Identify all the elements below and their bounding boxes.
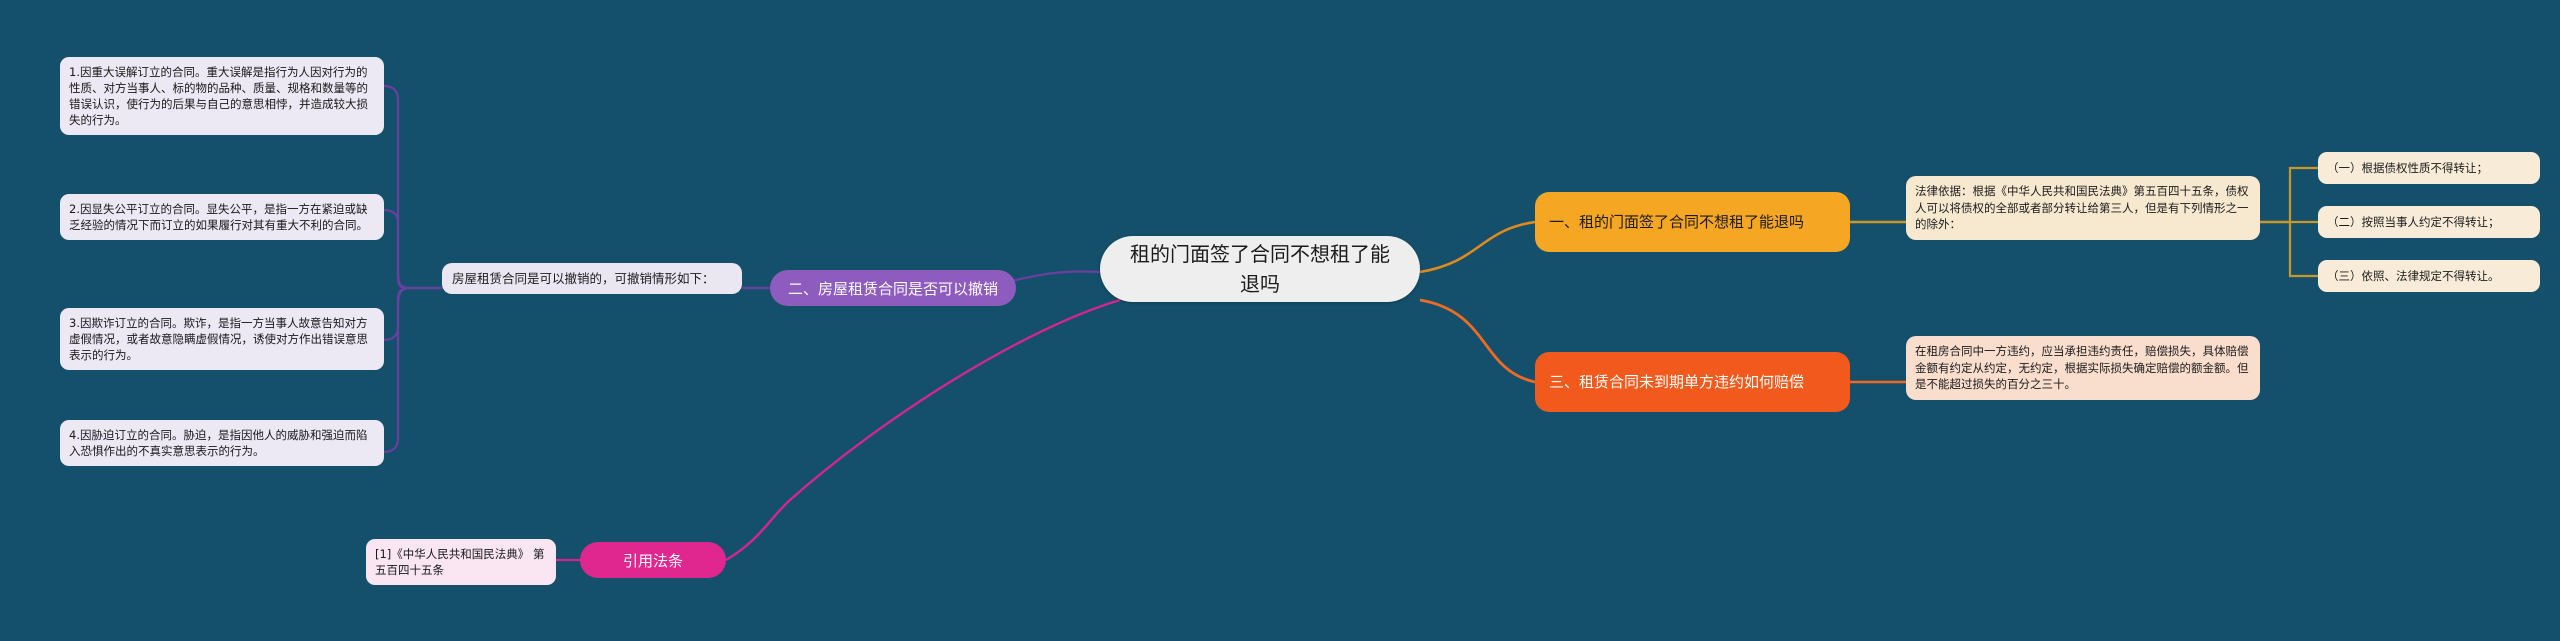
orange-leaf-1-text: （一）根据债权性质不得转让； <box>2327 160 2488 176</box>
link-summary-to-item4 <box>384 288 410 452</box>
mindmap-canvas: 租的门面签了合同不想租了能退吗 二、房屋租赁合同是否可以撤销 房屋租赁合同是可以… <box>0 0 2560 641</box>
branch-label-orange: 一、租的门面签了合同不想租了能退吗 <box>1549 211 1804 234</box>
orange-leaf-1[interactable]: （一）根据债权性质不得转让； <box>2318 152 2540 184</box>
purple-item-2-text: 2.因显失公平订立的合同。显失公平，是指一方在紧迫或缺乏经验的情况下而订立的如果… <box>69 202 368 232</box>
link-orange-leaf-1 <box>2290 168 2318 222</box>
branch-node-purple[interactable]: 二、房屋租赁合同是否可以撤销 <box>770 270 1016 306</box>
pink-item-1-text: [1]《中华人民共和国民法典》 第五百四十五条 <box>375 547 544 577</box>
link-summary-to-item3 <box>384 288 410 340</box>
orange-summary-text: 法律依据：根据《中华人民共和国民法典》第五百四十五条，债权人可以将债权的全部或者… <box>1915 184 2249 231</box>
branch-node-pink[interactable]: 引用法条 <box>580 542 726 578</box>
root-node[interactable]: 租的门面签了合同不想租了能退吗 <box>1100 236 1420 302</box>
pink-item-1[interactable]: [1]《中华人民共和国民法典》 第五百四十五条 <box>366 539 556 585</box>
purple-item-4[interactable]: 4.因胁迫订立的合同。胁迫，是指因他人的威胁和强迫而陷入恐惧作出的不真实意思表示… <box>60 420 384 466</box>
purple-summary-box[interactable]: 房屋租赁合同是可以撤销的，可撤销情形如下： <box>442 263 742 294</box>
purple-item-4-text: 4.因胁迫订立的合同。胁迫，是指因他人的威胁和强迫而陷入恐惧作出的不真实意思表示… <box>69 428 367 458</box>
purple-item-1-text: 1.因重大误解订立的合同。重大误解是指行为人因对行为的性质、对方当事人、标的物的… <box>69 65 368 127</box>
orange-leaf-2-text: （二）按照当事人约定不得转让； <box>2327 214 2500 230</box>
orange-leaf-2[interactable]: （二）按照当事人约定不得转让； <box>2318 206 2540 238</box>
link-orange-leaf-3 <box>2290 222 2318 276</box>
branch-label-pink: 引用法条 <box>623 550 683 571</box>
purple-item-3-text: 3.因欺诈订立的合同。欺诈，是指一方当事人故意告知对方虚假情况，或者故意隐瞒虚假… <box>69 316 368 362</box>
branch-node-orange[interactable]: 一、租的门面签了合同不想租了能退吗 <box>1535 192 1850 252</box>
link-summary-to-item1 <box>384 86 410 288</box>
branch-label-purple: 二、房屋租赁合同是否可以撤销 <box>788 278 998 299</box>
link-root-to-orange <box>1420 222 1535 272</box>
orange-summary-box[interactable]: 法律依据：根据《中华人民共和国民法典》第五百四十五条，债权人可以将债权的全部或者… <box>1906 176 2260 240</box>
orange-leaf-3[interactable]: （三）依照、法律规定不得转让。 <box>2318 260 2540 292</box>
purple-item-1[interactable]: 1.因重大误解订立的合同。重大误解是指行为人因对行为的性质、对方当事人、标的物的… <box>60 57 384 135</box>
link-root-to-deeporange <box>1420 300 1535 382</box>
link-summary-to-item2 <box>384 210 410 288</box>
orange-leaf-3-text: （三）依照、法律规定不得转让。 <box>2327 268 2500 284</box>
purple-item-2[interactable]: 2.因显失公平订立的合同。显失公平，是指一方在紧迫或缺乏经验的情况下而订立的如果… <box>60 194 384 240</box>
purple-summary-text: 房屋租赁合同是可以撤销的，可撤销情形如下： <box>452 271 715 286</box>
branch-label-deeporange: 三、租赁合同未到期单方违约如何赔偿 <box>1549 371 1804 394</box>
root-title: 租的门面签了合同不想租了能退吗 <box>1122 239 1398 299</box>
branch-node-deeporange[interactable]: 三、租赁合同未到期单方违约如何赔偿 <box>1535 352 1850 412</box>
deeporange-summary-box[interactable]: 在租房合同中一方违约，应当承担违约责任，赔偿损失，具体赔偿金额有约定从约定，无约… <box>1906 336 2260 400</box>
deeporange-summary-text: 在租房合同中一方违约，应当承担违约责任，赔偿损失，具体赔偿金额有约定从约定，无约… <box>1915 344 2249 391</box>
purple-item-3[interactable]: 3.因欺诈订立的合同。欺诈，是指一方当事人故意告知对方虚假情况，或者故意隐瞒虚假… <box>60 308 384 370</box>
link-root-to-pink <box>726 300 1120 560</box>
